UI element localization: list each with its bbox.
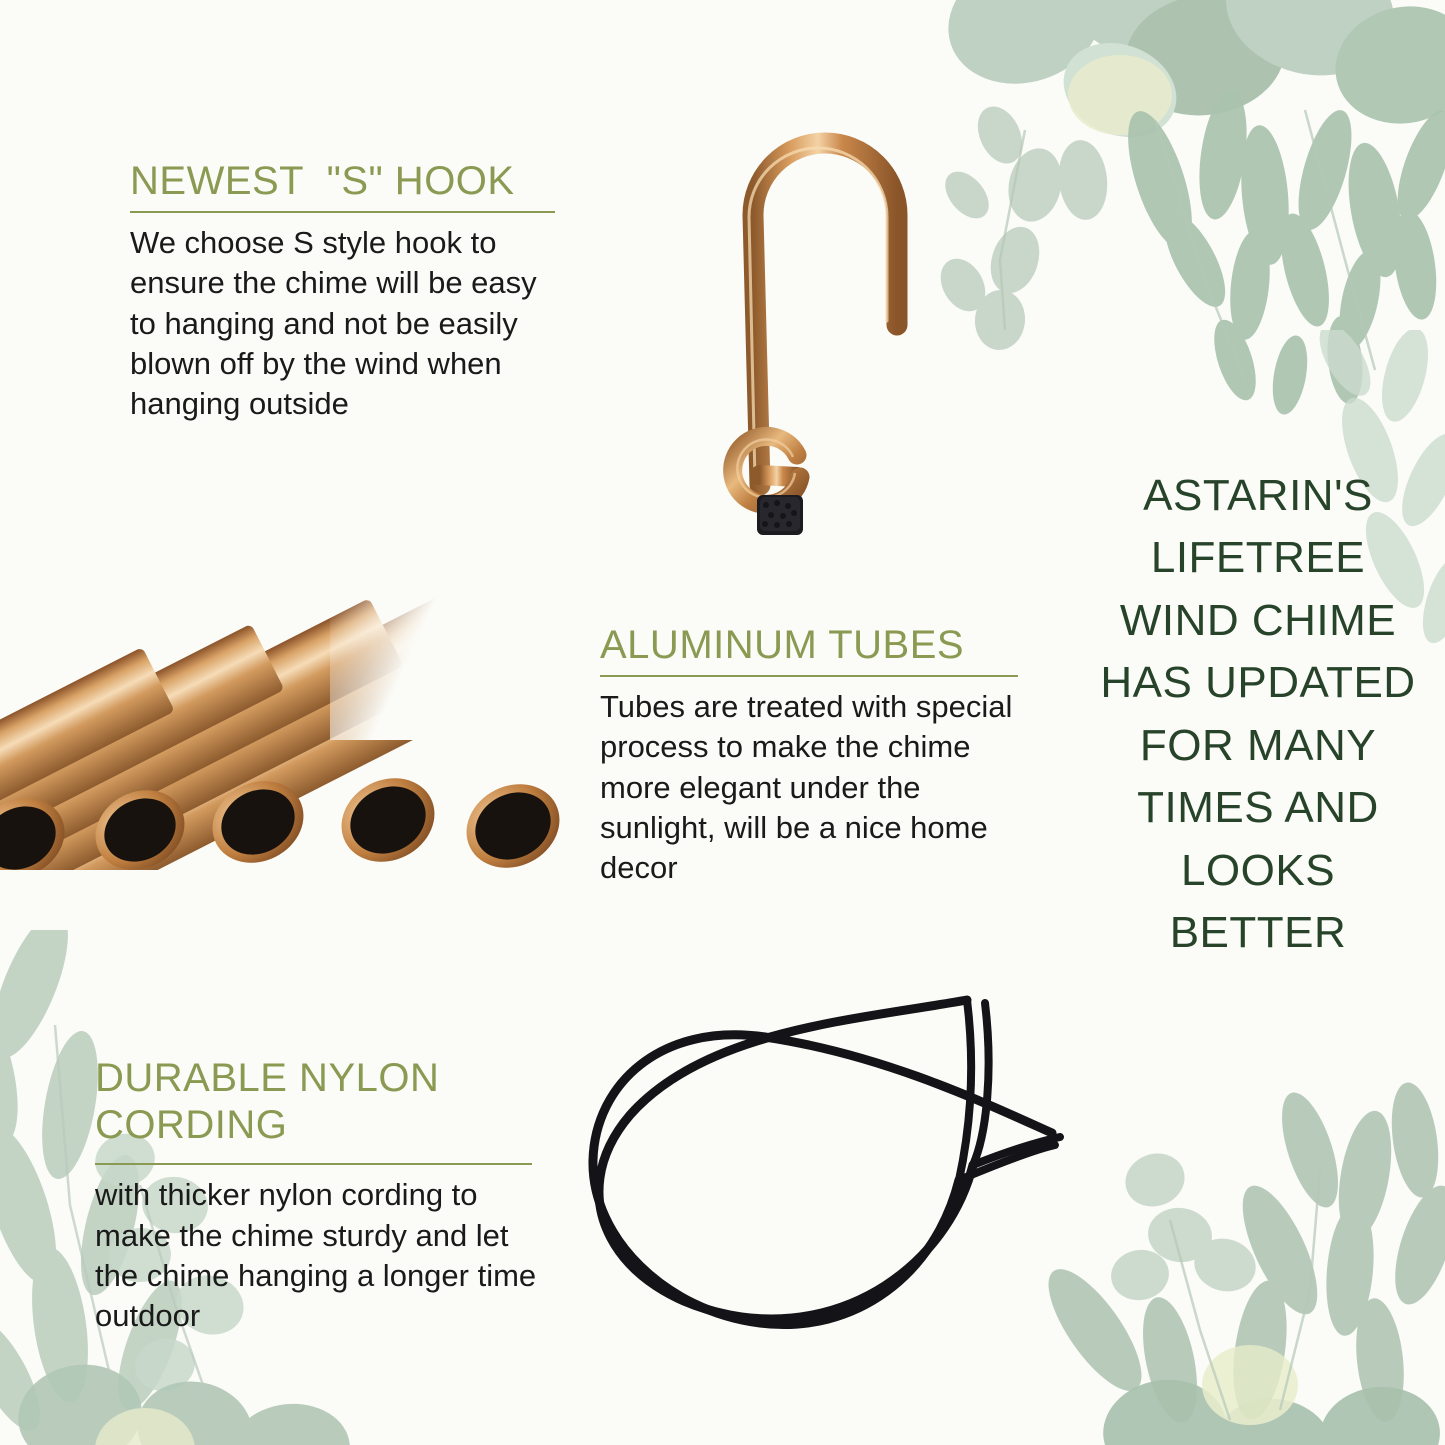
infographic-canvas: NEWEST "S" HOOK We choose S style hook t… bbox=[0, 0, 1445, 1445]
feature-aluminum-tubes-heading: ALUMINUM TUBES bbox=[600, 622, 1018, 669]
feature-nylon-cording-body: with thicker nylon cording to make the c… bbox=[95, 1175, 545, 1336]
feature-nylon-cording-heading: DURABLE NYLON CORDING bbox=[95, 1055, 475, 1149]
nylon-cord-photo bbox=[555, 975, 1075, 1350]
feature-s-hook: NEWEST "S" HOOK We choose S style hook t… bbox=[130, 158, 555, 425]
feature-s-hook-rule bbox=[130, 211, 555, 213]
feature-s-hook-heading: NEWEST "S" HOOK bbox=[130, 158, 555, 205]
tubes-fade-mask bbox=[330, 440, 620, 740]
feature-aluminum-tubes-body: Tubes are treated with special process t… bbox=[600, 687, 1018, 888]
feature-nylon-cording-rule bbox=[95, 1163, 532, 1165]
s-hook-photo bbox=[665, 25, 945, 535]
feature-aluminum-tubes: ALUMINUM TUBES Tubes are treated with sp… bbox=[600, 622, 1018, 889]
product-headline: ASTARIN'S LIFETREE WIND CHIME HAS UPDATE… bbox=[1088, 465, 1428, 965]
top-right-foliage bbox=[905, 0, 1445, 430]
tubes-bottom-mask bbox=[0, 870, 610, 930]
feature-aluminum-tubes-rule bbox=[600, 675, 1018, 677]
feature-nylon-cording: DURABLE NYLON CORDING with thicker nylon… bbox=[95, 1055, 545, 1337]
bottom-right-foliage bbox=[1010, 1040, 1445, 1445]
feature-s-hook-body: We choose S style hook to ensure the chi… bbox=[130, 223, 555, 424]
